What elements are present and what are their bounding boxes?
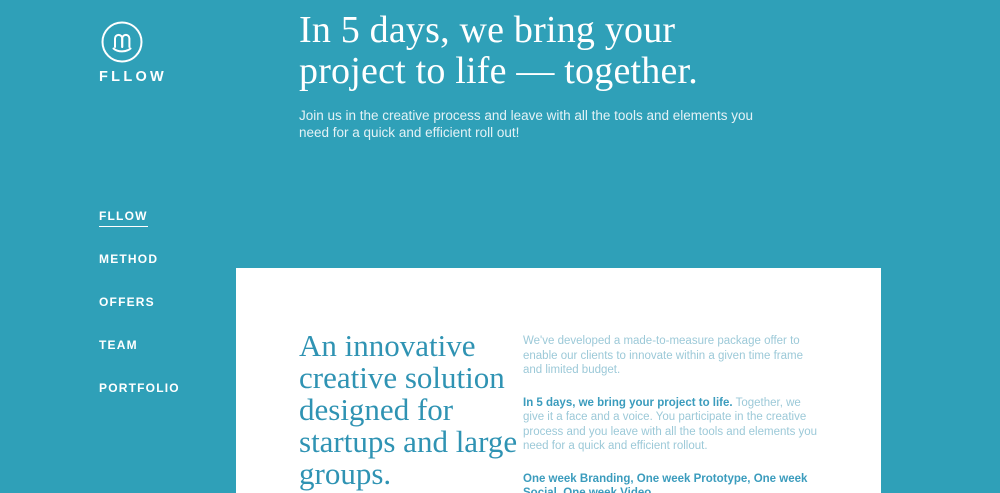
hero-title: In 5 days, we bring your project to life…: [299, 10, 859, 92]
hero-subtitle: Join us in the creative process and leav…: [299, 107, 759, 141]
hero-section: In 5 days, we bring your project to life…: [299, 10, 859, 141]
section-heading: An innovative creative solution designed…: [299, 330, 521, 490]
main-content-left: An innovative creative solution designed…: [299, 330, 521, 493]
sidebar-item-method[interactable]: METHOD: [99, 253, 158, 270]
main-content-right: We've developed a made-to-measure packag…: [523, 330, 823, 493]
fllow-circle-loops-logo-icon: [100, 20, 144, 64]
hero-title-line-2: project to life — together.: [299, 51, 859, 92]
main-content: An innovative creative solution designed…: [299, 330, 859, 493]
sidebar-item-offers[interactable]: OFFERS: [99, 296, 155, 313]
brand-logo[interactable]: FLLOW: [98, 20, 208, 85]
body-paragraph-2: In 5 days, we bring your project to life…: [523, 396, 823, 454]
body-paragraph-2-bold: In 5 days, we bring your project to life…: [523, 397, 733, 409]
hero-title-line-1: In 5 days, we bring your: [299, 10, 859, 51]
sidebar-item-team[interactable]: TEAM: [99, 339, 138, 356]
body-paragraph-1: We've developed a made-to-measure packag…: [523, 334, 823, 378]
brand-wordmark: FLLOW: [99, 70, 208, 85]
sidebar-item-portfolio[interactable]: PORTFOLIO: [99, 382, 180, 399]
sidebar-nav: FLLOW METHOD OFFERS TEAM PORTFOLIO: [99, 210, 229, 425]
body-paragraph-3: One week Branding, One week Prototype, O…: [523, 472, 823, 493]
sidebar-item-fllow[interactable]: FLLOW: [99, 210, 148, 227]
